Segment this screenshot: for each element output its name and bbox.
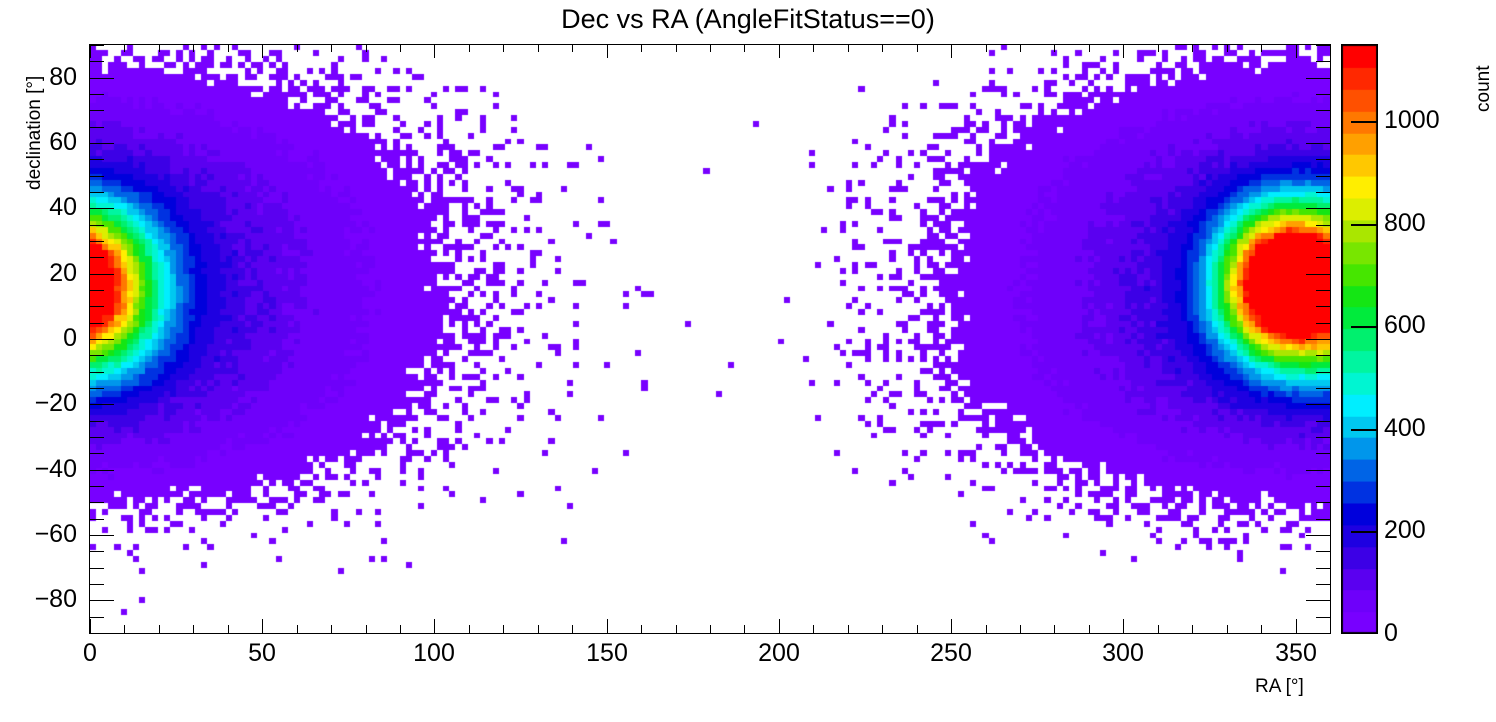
y-minor-tick <box>90 159 104 160</box>
x-minor-tick <box>503 625 504 633</box>
page-title: Dec vs RA (AngleFitStatus==0) <box>0 4 1496 35</box>
y-minor-tick-right <box>1316 421 1330 422</box>
y-major-tick-right <box>1306 339 1330 340</box>
y-minor-tick <box>90 372 104 373</box>
y-minor-tick <box>90 323 104 324</box>
y-minor-tick-right <box>1316 94 1330 95</box>
y-minor-tick-right <box>1316 323 1330 324</box>
x-minor-tick-top <box>1261 44 1262 52</box>
x-tick-label: 50 <box>217 641 307 666</box>
y-minor-tick <box>90 633 104 634</box>
x-major-tick-top <box>779 44 780 58</box>
x-minor-tick <box>1158 625 1159 633</box>
x-minor-tick <box>228 625 229 633</box>
y-major-tick-right <box>1306 600 1330 601</box>
colorbar-title: count <box>1473 66 1495 112</box>
y-minor-tick <box>90 225 104 226</box>
y-minor-tick-right <box>1316 568 1330 569</box>
y-tick-label: −60 <box>0 522 77 547</box>
x-minor-tick <box>1020 625 1021 633</box>
x-minor-tick-top <box>297 44 298 52</box>
y-minor-tick-right <box>1316 617 1330 618</box>
y-minor-tick <box>90 551 104 552</box>
x-minor-tick-top <box>366 44 367 52</box>
x-minor-tick <box>1330 625 1331 633</box>
x-minor-tick-top <box>1330 44 1331 52</box>
y-minor-tick <box>90 617 104 618</box>
y-major-tick <box>90 78 114 79</box>
x-minor-tick-top <box>641 44 642 52</box>
y-minor-tick-right <box>1316 519 1330 520</box>
y-minor-tick <box>90 519 104 520</box>
x-minor-tick <box>1192 625 1193 633</box>
y-minor-tick <box>90 61 104 62</box>
y-minor-tick <box>90 388 104 389</box>
y-major-tick <box>90 404 114 405</box>
y-axis-title: declination [°] <box>24 76 46 190</box>
y-minor-tick <box>90 94 104 95</box>
y-minor-tick-right <box>1316 176 1330 177</box>
x-minor-tick-top <box>710 44 711 52</box>
y-minor-tick-right <box>1316 45 1330 46</box>
x-major-tick <box>262 619 263 633</box>
x-axis-title: RA [°] <box>1255 676 1304 698</box>
x-major-tick-top <box>434 44 435 58</box>
y-major-tick-right <box>1306 470 1330 471</box>
colorbar-tick <box>1351 429 1377 431</box>
x-tick-label: 200 <box>734 641 824 666</box>
y-minor-tick <box>90 421 104 422</box>
x-major-tick <box>607 619 608 633</box>
x-minor-tick-top <box>331 44 332 52</box>
y-major-tick-right <box>1306 208 1330 209</box>
y-major-tick <box>90 535 114 536</box>
x-minor-tick-top <box>1054 44 1055 52</box>
y-minor-tick-right <box>1316 437 1330 438</box>
y-minor-tick-right <box>1316 388 1330 389</box>
plot-canvas: Dec vs RA (AngleFitStatus==0) 0501001502… <box>0 0 1496 722</box>
y-minor-tick-right <box>1316 372 1330 373</box>
y-minor-tick <box>90 45 104 46</box>
x-minor-tick-top <box>1020 44 1021 52</box>
y-minor-tick <box>90 453 104 454</box>
y-tick-label: −20 <box>0 391 77 416</box>
y-major-tick-right <box>1306 404 1330 405</box>
y-minor-tick <box>90 486 104 487</box>
y-minor-tick-right <box>1316 225 1330 226</box>
x-minor-tick <box>710 625 711 633</box>
colorbar-tick-label: 800 <box>1384 211 1426 236</box>
y-tick-label: 40 <box>0 195 77 220</box>
y-tick-label: 20 <box>0 261 77 286</box>
x-major-tick <box>951 619 952 633</box>
y-minor-tick-right <box>1316 290 1330 291</box>
y-minor-tick-right <box>1316 453 1330 454</box>
y-minor-tick-right <box>1316 192 1330 193</box>
x-minor-tick <box>572 625 573 633</box>
y-minor-tick-right <box>1316 241 1330 242</box>
y-minor-tick <box>90 502 104 503</box>
x-minor-tick-top <box>159 44 160 52</box>
x-major-tick-top <box>607 44 608 58</box>
y-minor-tick <box>90 127 104 128</box>
colorbar-tick-label: 600 <box>1384 313 1426 338</box>
y-minor-tick <box>90 306 104 307</box>
y-major-tick <box>90 600 114 601</box>
y-major-tick <box>90 274 114 275</box>
x-minor-tick <box>744 625 745 633</box>
y-minor-tick <box>90 192 104 193</box>
x-minor-tick-top <box>1158 44 1159 52</box>
y-minor-tick-right <box>1316 127 1330 128</box>
y-minor-tick-right <box>1316 61 1330 62</box>
x-minor-tick-top <box>986 44 987 52</box>
x-minor-tick-top <box>538 44 539 52</box>
x-minor-tick-top <box>469 44 470 52</box>
y-minor-tick-right <box>1316 584 1330 585</box>
x-tick-label: 100 <box>389 641 479 666</box>
x-minor-tick <box>1089 625 1090 633</box>
x-minor-tick-top <box>572 44 573 52</box>
histogram-heatmap <box>90 45 1330 633</box>
colorbar-tick-label: 1000 <box>1384 108 1440 133</box>
x-major-tick-top <box>90 44 91 58</box>
colorbar-tick-label: 400 <box>1384 416 1426 441</box>
x-minor-tick-top <box>813 44 814 52</box>
y-minor-tick <box>90 176 104 177</box>
x-minor-tick <box>469 625 470 633</box>
x-minor-tick <box>331 625 332 633</box>
x-minor-tick <box>159 625 160 633</box>
x-major-tick <box>90 619 91 633</box>
x-major-tick-top <box>1123 44 1124 58</box>
histogram-frame <box>89 44 1331 634</box>
y-minor-tick-right <box>1316 110 1330 111</box>
y-minor-tick-right <box>1316 257 1330 258</box>
x-minor-tick <box>986 625 987 633</box>
y-minor-tick <box>90 257 104 258</box>
x-minor-tick <box>917 625 918 633</box>
x-tick-label: 250 <box>906 641 996 666</box>
y-major-tick <box>90 208 114 209</box>
x-minor-tick-top <box>676 44 677 52</box>
y-minor-tick <box>90 241 104 242</box>
y-minor-tick-right <box>1316 551 1330 552</box>
colorbar-tick <box>1351 224 1377 226</box>
colorbar-tick <box>1351 326 1377 328</box>
x-tick-label: 0 <box>45 641 135 666</box>
colorbar-tick-label: 200 <box>1384 518 1426 543</box>
y-tick-label: −80 <box>0 587 77 612</box>
x-major-tick-top <box>1296 44 1297 58</box>
x-minor-tick-top <box>124 44 125 52</box>
x-minor-tick <box>1054 625 1055 633</box>
y-minor-tick-right <box>1316 306 1330 307</box>
colorbar-tick-label: 0 <box>1384 621 1398 646</box>
x-minor-tick <box>848 625 849 633</box>
colorbar <box>1341 44 1378 634</box>
x-minor-tick <box>124 625 125 633</box>
x-minor-tick-top <box>400 44 401 52</box>
x-minor-tick <box>1261 625 1262 633</box>
x-minor-tick-top <box>744 44 745 52</box>
y-minor-tick <box>90 110 104 111</box>
y-minor-tick <box>90 290 104 291</box>
x-tick-label: 150 <box>562 641 652 666</box>
x-minor-tick-top <box>503 44 504 52</box>
x-minor-tick <box>1227 625 1228 633</box>
x-minor-tick <box>297 625 298 633</box>
y-major-tick <box>90 143 114 144</box>
y-major-tick-right <box>1306 78 1330 79</box>
x-minor-tick <box>193 625 194 633</box>
y-minor-tick <box>90 355 104 356</box>
y-major-tick-right <box>1306 274 1330 275</box>
x-major-tick-top <box>262 44 263 58</box>
y-major-tick <box>90 339 114 340</box>
x-major-tick-top <box>951 44 952 58</box>
x-minor-tick <box>676 625 677 633</box>
x-minor-tick-top <box>1192 44 1193 52</box>
x-minor-tick <box>366 625 367 633</box>
y-minor-tick-right <box>1316 633 1330 634</box>
colorbar-tick <box>1351 531 1377 533</box>
y-minor-tick <box>90 568 104 569</box>
y-tick-label: 0 <box>0 326 77 351</box>
x-minor-tick <box>641 625 642 633</box>
x-minor-tick-top <box>193 44 194 52</box>
x-major-tick <box>434 619 435 633</box>
x-minor-tick-top <box>1227 44 1228 52</box>
x-minor-tick-top <box>1089 44 1090 52</box>
y-tick-label: −40 <box>0 457 77 482</box>
y-major-tick <box>90 470 114 471</box>
y-minor-tick-right <box>1316 159 1330 160</box>
y-major-tick-right <box>1306 143 1330 144</box>
y-minor-tick-right <box>1316 486 1330 487</box>
x-minor-tick-top <box>228 44 229 52</box>
x-major-tick <box>1296 619 1297 633</box>
y-minor-tick-right <box>1316 355 1330 356</box>
x-minor-tick-top <box>917 44 918 52</box>
x-major-tick <box>779 619 780 633</box>
y-minor-tick <box>90 584 104 585</box>
colorbar-tick <box>1351 121 1377 123</box>
x-tick-label: 350 <box>1251 641 1341 666</box>
x-minor-tick <box>538 625 539 633</box>
x-minor-tick-top <box>848 44 849 52</box>
y-minor-tick <box>90 437 104 438</box>
x-minor-tick <box>400 625 401 633</box>
x-minor-tick-top <box>882 44 883 52</box>
x-tick-label: 300 <box>1078 641 1168 666</box>
y-minor-tick-right <box>1316 502 1330 503</box>
x-major-tick <box>1123 619 1124 633</box>
colorbar-gradient <box>1341 44 1378 634</box>
x-minor-tick <box>882 625 883 633</box>
y-major-tick-right <box>1306 535 1330 536</box>
x-minor-tick <box>813 625 814 633</box>
